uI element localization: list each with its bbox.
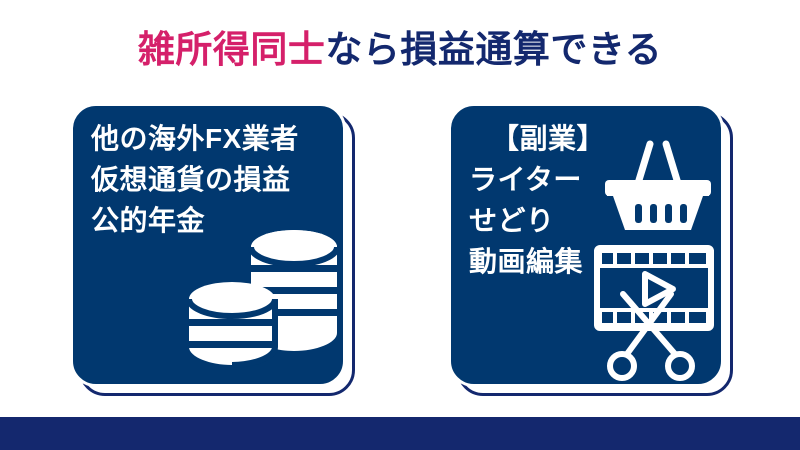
card-miscellaneous-income: 他の海外FX業者 仮想通貨の損益 公的年金 (70, 103, 346, 387)
card-left-line-2: 仮想通貨の損益 (91, 159, 333, 200)
page-title: 雑所得同士なら損益通算できる (0, 27, 800, 73)
shopping-basket-icon (603, 132, 713, 232)
page-title-highlight: 雑所得同士 (138, 29, 326, 70)
bottom-accent-band (0, 417, 800, 450)
card-left-text-block: 他の海外FX業者 仮想通貨の損益 公的年金 (91, 118, 333, 241)
card-front-left: 他の海外FX業者 仮想通貨の損益 公的年金 (70, 103, 346, 387)
card-front-right: 【副業】 ライター せどり 動画編集 (448, 103, 724, 387)
card-side-business-income: 【副業】 ライター せどり 動画編集 (448, 103, 724, 387)
coin-stack-icon (187, 225, 337, 370)
slide-canvas: 雑所得同士なら損益通算できる 他の海外FX業者 仮想通貨の損益 公的年金 (0, 0, 800, 450)
card-left-line-1: 他の海外FX業者 (91, 118, 333, 159)
video-editing-icon (593, 242, 721, 384)
page-title-rest: なら損益通算できる (325, 29, 662, 70)
